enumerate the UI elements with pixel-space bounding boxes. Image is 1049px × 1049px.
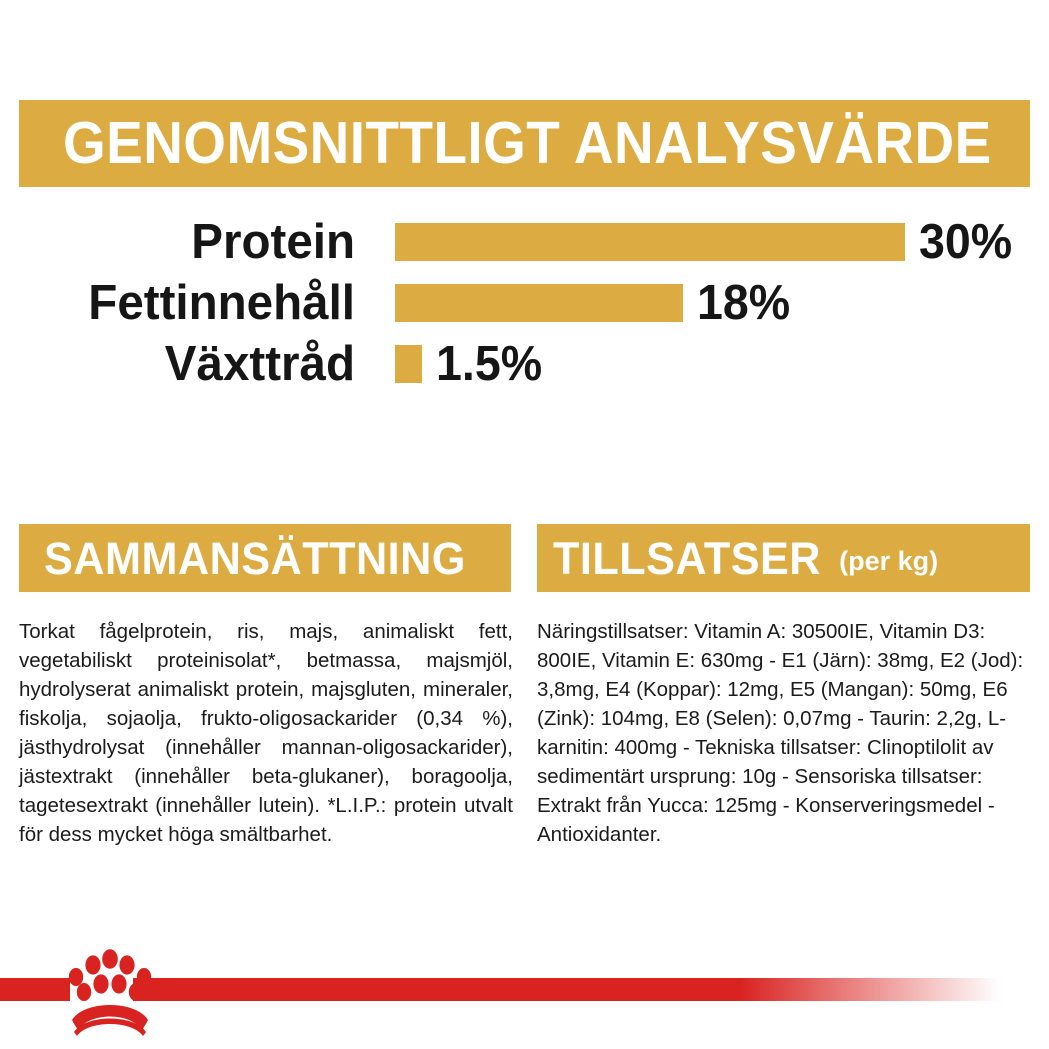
composition-banner: SAMMANSÄTTNING: [19, 524, 511, 592]
chart-label-fibre: Växttråd: [11, 340, 355, 389]
footer-rule-left: [0, 978, 70, 1001]
chart-label-protein: Protein: [11, 218, 355, 267]
composition-text-block: Torkat fågelprotein, ris, majs, animalis…: [19, 617, 513, 849]
additives-paragraph: Näringstillsatser: Vitamin A: 30500IE, V…: [537, 617, 1033, 849]
chart-row: Fettinnehåll 18%: [0, 276, 1049, 330]
chart-bar-wrap: 1.5%: [395, 340, 548, 389]
footer-rule-right: [133, 978, 1000, 1001]
chart-value-protein: 30%: [919, 218, 1012, 267]
additives-banner-title: TILLSATSER: [553, 536, 821, 581]
additives-text-block: Näringstillsatser: Vitamin A: 30500IE, V…: [537, 617, 1033, 849]
chart-value-fat: 18%: [697, 279, 790, 328]
chart-bar-wrap: 30%: [395, 218, 1017, 267]
chart-bar-protein: [395, 223, 905, 261]
analysis-bar-chart: Protein 30% Fettinnehåll 18% Växttråd 1.…: [0, 205, 1049, 395]
chart-row: Växttråd 1.5%: [0, 337, 1049, 391]
chart-bar-wrap: 18%: [395, 279, 795, 328]
chart-bar-fibre: [395, 345, 422, 383]
composition-banner-title: SAMMANSÄTTNING: [44, 536, 466, 581]
analysis-banner: GENOMSNITTLIGT ANALYSVÄRDE: [19, 100, 1030, 187]
analysis-banner-title: GENOMSNITTLIGT ANALYSVÄRDE: [63, 114, 992, 173]
nutrition-panel: GENOMSNITTLIGT ANALYSVÄRDE Protein 30% F…: [0, 0, 1049, 1049]
chart-value-fibre: 1.5%: [436, 340, 542, 389]
royal-canin-crown-icon: [68, 944, 152, 1036]
chart-bar-fat: [395, 284, 683, 322]
chart-row: Protein 30%: [0, 215, 1049, 269]
royal-canin-footer: [0, 930, 1049, 1049]
additives-banner-subtitle: (per kg): [839, 548, 938, 575]
additives-banner: TILLSATSER (per kg): [537, 524, 1030, 592]
composition-paragraph: Torkat fågelprotein, ris, majs, animalis…: [19, 617, 513, 849]
chart-label-fat: Fettinnehåll: [11, 279, 355, 328]
